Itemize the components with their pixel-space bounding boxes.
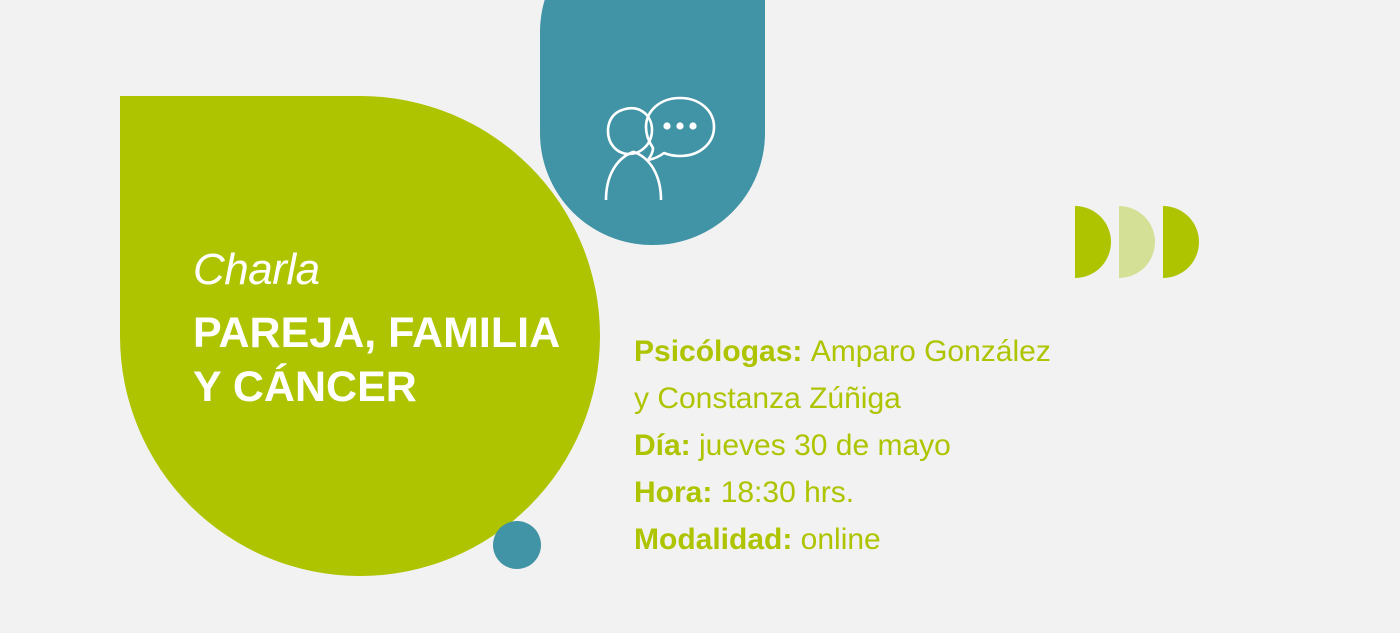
teal-leaf-shape [540, 0, 765, 245]
detail-label: Hora: [634, 476, 721, 509]
page-title: PAREJA, FAMILIA Y CÁNCER [193, 306, 593, 414]
title-block: Charla PAREJA, FAMILIA Y CÁNCER [193, 248, 593, 414]
half-circle-icon [1119, 206, 1155, 278]
detail-value: jueves 30 de mayo [699, 429, 951, 462]
teal-dot-accent [493, 521, 541, 569]
detail-label: Modalidad: [634, 523, 801, 556]
detail-value: 18:30 hrs. [721, 476, 854, 509]
detail-label: Psicólogas: [634, 335, 811, 368]
detail-row-psicologas-cont: y Constanza Zúñiga [634, 375, 1154, 422]
detail-row-dia: Día: jueves 30 de mayo [634, 422, 1154, 469]
detail-value: Amparo González [811, 335, 1051, 368]
detail-value: y Constanza Zúñiga [634, 382, 901, 415]
event-details-list: Psicólogas: Amparo González y Constanza … [634, 328, 1154, 563]
detail-row-psicologas: Psicólogas: Amparo González [634, 328, 1154, 375]
headline-line-2: Y CÁNCER [193, 360, 593, 414]
kicker-text: Charla [193, 248, 593, 292]
poster-canvas: Charla PAREJA, FAMILIA Y CÁNCER Psicólog… [0, 0, 1400, 633]
half-circle-icon [1075, 206, 1111, 278]
conversation-icon [588, 90, 718, 200]
detail-row-hora: Hora: 18:30 hrs. [634, 469, 1154, 516]
detail-value: online [801, 523, 881, 556]
detail-row-modalidad: Modalidad: online [634, 516, 1154, 563]
headline-line-1: PAREJA, FAMILIA [193, 306, 593, 360]
detail-label: Día: [634, 429, 699, 462]
logo-mark-three-half-circles [1075, 206, 1201, 278]
half-circle-icon [1163, 206, 1199, 278]
